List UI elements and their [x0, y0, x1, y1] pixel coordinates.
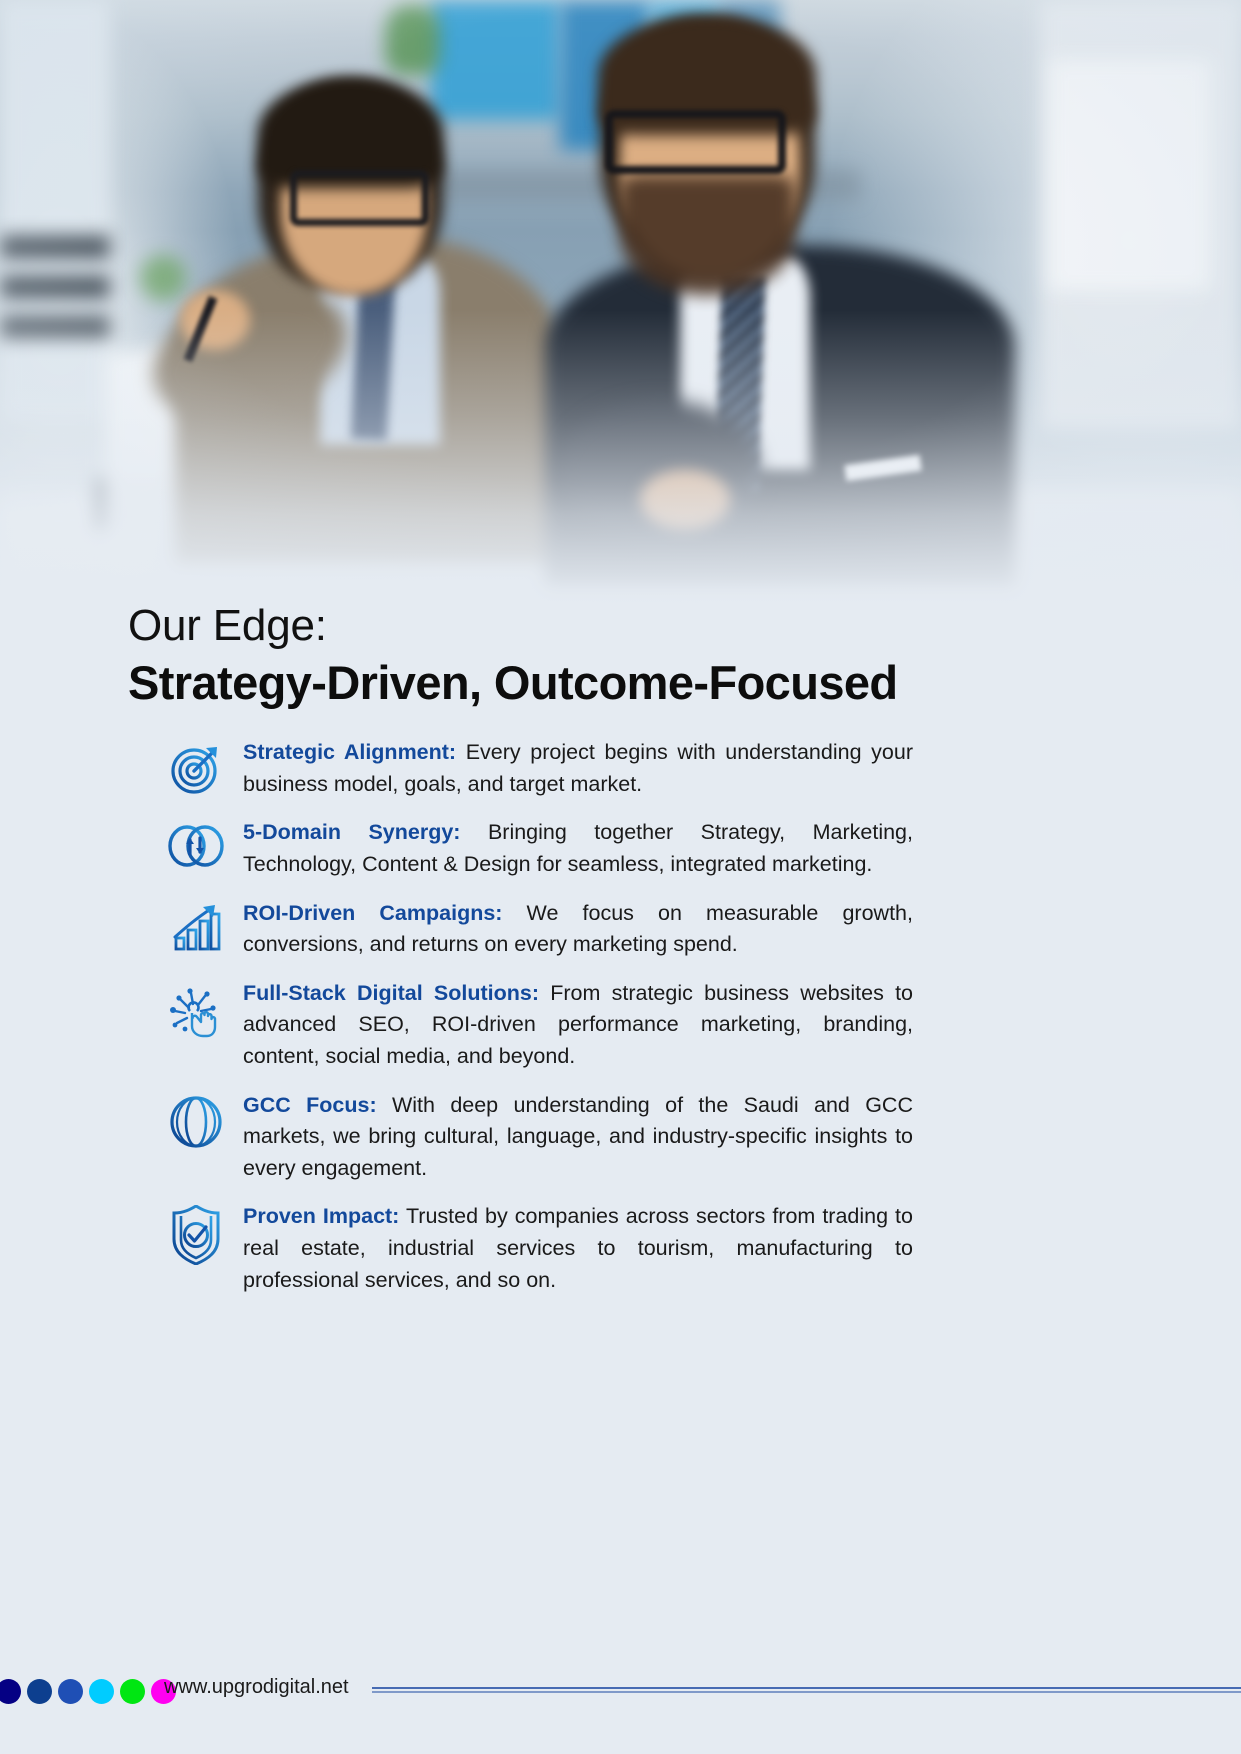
- hero-fade-overlay: [0, 310, 1241, 640]
- feature-text: GCC Focus: With deep understanding of th…: [243, 1090, 913, 1185]
- feature-item-roi-driven-campaigns: ROI-Driven Campaigns: We focus on measur…: [0, 898, 1241, 961]
- brand-dot: [58, 1679, 83, 1704]
- hero-image: [0, 0, 1241, 640]
- feature-item-full-stack-digital-solutions: Full-Stack Digital Solutions: From strat…: [0, 978, 1241, 1073]
- feature-text: Proven Impact: Trusted by companies acro…: [243, 1201, 913, 1296]
- growth-chart-icon: [165, 902, 227, 960]
- synergy-circles-icon: [165, 821, 227, 879]
- shield-check-icon: [165, 1205, 227, 1263]
- feature-label: GCC Focus:: [243, 1093, 377, 1117]
- feature-item-5-domain-synergy: 5-Domain Synergy: Bringing together Stra…: [0, 817, 1241, 880]
- feature-text: Strategic Alignment: Every project begin…: [243, 737, 913, 800]
- page-title: Our Edge: Strategy-Driven, Outcome-Focus…: [0, 600, 1241, 711]
- feature-text: 5-Domain Synergy: Bringing together Stra…: [243, 817, 913, 880]
- footer-rule: [372, 1687, 1241, 1693]
- brand-dot: [89, 1679, 114, 1704]
- feature-text: ROI-Driven Campaigns: We focus on measur…: [243, 898, 913, 961]
- feature-item-strategic-alignment: Strategic Alignment: Every project begin…: [0, 737, 1241, 800]
- globe-icon: [165, 1094, 227, 1152]
- feature-text: Full-Stack Digital Solutions: From strat…: [243, 978, 913, 1073]
- content-section: Our Edge: Strategy-Driven, Outcome-Focus…: [0, 600, 1241, 1754]
- feature-label: ROI-Driven Campaigns:: [243, 901, 502, 925]
- page-footer: www.upgrodigital.net: [0, 1638, 1241, 1754]
- page-title-line2: Strategy-Driven, Outcome-Focused: [128, 654, 1241, 711]
- website-link[interactable]: www.upgrodigital.net: [164, 1676, 349, 1699]
- brand-dots: [0, 1679, 176, 1704]
- target-arrow-icon: [165, 741, 227, 799]
- feature-label: Strategic Alignment:: [243, 740, 456, 764]
- feature-label: 5-Domain Synergy:: [243, 820, 460, 844]
- feature-item-proven-impact: Proven Impact: Trusted by companies acro…: [0, 1201, 1241, 1296]
- feature-label: Proven Impact:: [243, 1204, 399, 1228]
- tap-hand-icon: [165, 982, 227, 1040]
- feature-label: Full-Stack Digital Solutions:: [243, 981, 539, 1005]
- brand-dot: [27, 1679, 52, 1704]
- feature-list: Strategic Alignment: Every project begin…: [0, 737, 1241, 1296]
- page-title-line1: Our Edge:: [128, 600, 1241, 652]
- brand-dot: [120, 1679, 145, 1704]
- feature-item-gcc-focus: GCC Focus: With deep understanding of th…: [0, 1090, 1241, 1185]
- brand-dot: [0, 1679, 21, 1704]
